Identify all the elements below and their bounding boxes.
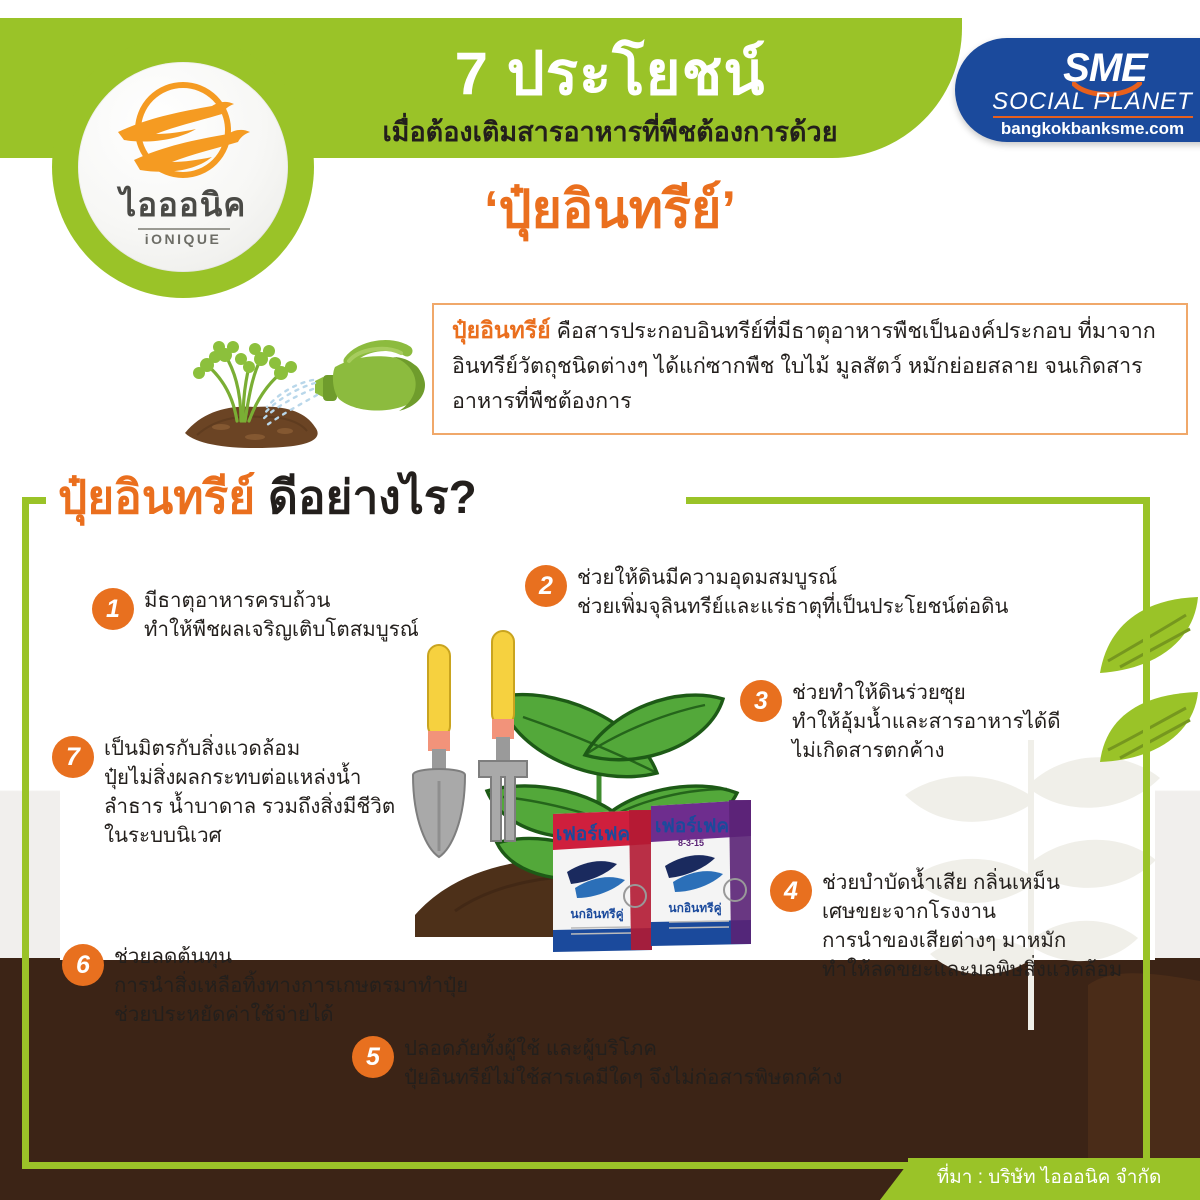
page-title: 7 ประโยชน์ [330,44,890,104]
section-heading-highlight: ปุ๋ยอินทรีย์ [58,471,255,523]
svg-text:8-3-15: 8-3-15 [678,838,704,848]
svg-text:เฟอร์เฟค: เฟอร์เฟค [556,823,630,845]
benefit-line: ปุ๋ยอินทรีย์ไม่ใช้สารเคมีใดๆ จึงไม่ก่อสา… [404,1063,843,1092]
benefit-line: ลำธาร น้ำบาดาล รวมถึงสิ่งมีชีวิต [104,792,395,821]
footer-source-text: ที่มา : บริษัท ไอออนิค จำกัด [908,1164,1190,1193]
benefit-line: ช่วยเพิ่มจุลินทรีย์และแร่ธาตุที่เป็นประโ… [577,592,1008,621]
benefit-line: ช่วยทำให้ดินร่วยซุย [792,678,1061,707]
definition-text: ปุ๋ยอินทรีย์ คือสารประกอบอินทรีย์ที่มีธา… [452,312,1172,419]
benefit-badge-4: 4 [770,870,812,912]
benefit-line: ช่วยบำบัดน้ำเสีย กลิ่นเหม็น [822,868,1122,897]
benefit-badge-3: 3 [740,680,782,722]
benefit-line: ทำให้อุ้มน้ำและสารอาหารได้ดี [792,707,1061,736]
benefit-line: เศษขยะจากโรงงาน [822,897,1122,926]
section-heading: ปุ๋ยอินทรีย์ ดีอย่างไร? [58,472,477,523]
logo-brand-name-en: iONIQUE [78,231,288,247]
fertilizer-bag-left: เฟอร์เฟค นกอินทรีคู่ [545,800,660,955]
benefit-line: ทำให้พืชผลเจริญเติบโตสมบูรณ์ [144,615,419,644]
benefit-badge-7: 7 [52,736,94,778]
benefit-text-4: ช่วยบำบัดน้ำเสีย กลิ่นเหม็น เศษขยะจากโรง… [822,868,1122,984]
benefit-line: การนำสิ่งเหลือทิ้งทางการเกษตรมาทำปุ๋ย [114,971,468,1000]
benefit-line: เป็นมิตรกับสิ่งแวดล้อม [104,734,395,763]
benefit-text-1: มีธาตุอาหารครบถ้วน ทำให้พืชผลเจริญเติบโต… [144,586,419,644]
definition-term: ปุ๋ยอินทรีย์ [452,317,551,343]
benefit-badge-1: 1 [92,588,134,630]
fertilizer-bag-right: เฟอร์เฟค 8-3-15 นกอินทรีคู่ [645,790,760,950]
page-title-term: ‘ปุ๋ยอินทรีย์’ [330,182,890,239]
benefit-line: ช่วยลดต้นทุน [114,942,468,971]
benefit-badge-6: 6 [62,944,104,986]
logo-brand-name-th: ไอออนิค [78,188,288,221]
svg-text:นกอินทรีคู่: นกอินทรีคู่ [668,901,721,916]
benefit-text-5: ปลอดภัยทั้งผู้ใช้ และผู้บริโภค ปุ๋ยอินทร… [404,1034,843,1092]
benefit-line: การนำของเสียต่างๆ มาหมัก [822,926,1122,955]
benefit-line: ปุ๋ยไม่สิ่งผลกระทบต่อแหล่งน้ำ [104,763,395,792]
infographic-canvas: ไอออนิค iONIQUE 7 ประโยชน์ เมื่อต้องเติม… [0,0,1200,1200]
benefit-line: ช่วยประหยัดค่าใช้จ่ายได้ [114,1000,468,1029]
page-subtitle: เมื่อต้องเติมสารอาหารที่พืชต้องการด้วย [320,118,900,148]
benefit-text-6: ช่วยลดต้นทุน การนำสิ่งเหลือทิ้งทางการเกษ… [114,942,468,1029]
benefit-line: ปลอดภัยทั้งผู้ใช้ และผู้บริโภค [404,1034,843,1063]
benefit-line: ช่วยให้ดินมีความอุดมสมบูรณ์ [577,563,1008,592]
watering-can-illustration [163,285,433,460]
sme-tagline: SOCIAL PLANET [985,90,1200,114]
benefit-badge-2: 2 [525,565,567,607]
sme-website: bangkokbanksme.com [985,118,1200,140]
benefit-text-7: เป็นมิตรกับสิ่งแวดล้อม ปุ๋ยไม่สิ่งผลกระท… [104,734,395,850]
svg-text:นกอินทรีคู่: นกอินทรีคู่ [570,907,623,922]
svg-text:เฟอร์เฟค: เฟอร์เฟค [655,815,729,837]
definition-body: คือสารประกอบอินทรีย์ที่มีธาตุอาหารพืชเป็… [452,319,1156,413]
benefit-line: ทำให้ลดขยะและมลพิษสิ่งแวดล้อม [822,955,1122,984]
benefit-badge-5: 5 [352,1036,394,1078]
benefit-text-3: ช่วยทำให้ดินร่วยซุย ทำให้อุ้มน้ำและสารอา… [792,678,1061,765]
eagle-head-emblem-icon [108,78,258,188]
benefit-line: ในระบบนิเวศ [104,821,395,850]
garden-trowel-icon [413,645,465,857]
benefit-line: มีธาตุอาหารครบถ้วน [144,586,419,615]
section-heading-rest: ดีอย่างไร? [255,471,476,523]
benefit-text-2: ช่วยให้ดินมีความอุดมสมบูรณ์ ช่วยเพิ่มจุล… [577,563,1008,621]
benefit-line: ไม่เกิดสารตกค้าง [792,736,1061,765]
logo-divider [138,228,230,230]
